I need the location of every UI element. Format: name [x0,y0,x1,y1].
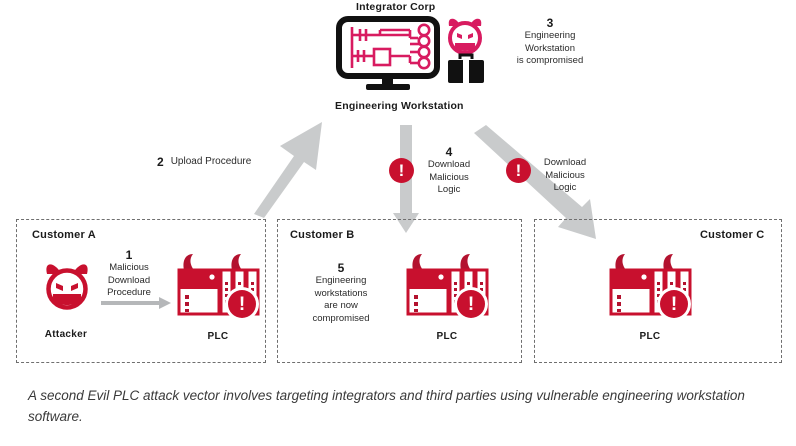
step-3-number: 3 [495,16,605,30]
customer-c-title: Customer C [700,229,764,241]
step-5-line-2: workstations [302,288,380,301]
step-3-line-2: Workstation [495,43,605,56]
download-c-line-1: Download [533,157,597,170]
download-c-line-3: Logic [533,182,597,195]
step-5-line-1: Engineering [302,275,380,288]
alert-glyph: ! [239,295,245,314]
download-c-line-2: Malicious [533,170,597,183]
attacker-devil-icon [41,261,93,311]
step-1-line-1: Malicious [98,262,160,275]
alert-badge-download-c: ! [506,158,531,183]
step-4-line-3: Logic [418,184,480,197]
alert-glyph: ! [516,162,522,179]
customer-a-title: Customer A [32,229,96,241]
step-1-block: 1 Malicious Download Procedure [98,248,160,300]
customer-b-title: Customer B [290,229,354,241]
step-5-number: 5 [302,261,380,275]
step-3-line-1: Engineering [495,30,605,43]
alert-badge-step-4: ! [389,158,414,183]
step-4-line-1: Download [418,159,480,172]
step-1-line-2: Download [98,275,160,288]
alert-glyph: ! [468,295,474,314]
alert-badge-plc-a: ! [228,290,256,318]
step-2-label: Upload Procedure [171,156,252,169]
alert-badge-plc-b: ! [457,290,485,318]
diagram-canvas: Integrator Corp [0,0,796,446]
figure-caption: A second Evil PLC attack vector involves… [28,385,748,427]
step-3-block: 3 Engineering Workstation is compromised [495,16,605,68]
step-5-block: 5 Engineering workstations are now compr… [302,261,380,325]
devil-face-icon [444,16,486,56]
malicious-download-arrow [101,296,173,310]
plc-label-customer-b: PLC [409,331,485,342]
step-2-block: 2 Upload Procedure [157,155,251,169]
engineering-workstation-monitor-icon [336,16,440,92]
engineering-workstation-label: Engineering Workstation [335,100,464,112]
step-3-line-3: is compromised [495,55,605,68]
step-4-line-2: Malicious [418,172,480,185]
integrator-corp-title: Integrator Corp [356,1,435,13]
upload-procedure-arrow [250,118,330,218]
alert-glyph: ! [399,162,405,179]
step-1-number: 1 [98,248,160,262]
attacker-label: Attacker [28,329,104,340]
step-4-number: 4 [418,145,480,159]
plc-label-customer-c: PLC [612,331,688,342]
alert-badge-plc-c: ! [660,290,688,318]
briefcase-icon [446,53,486,85]
step-2-number: 2 [157,155,164,169]
plc-label-customer-a: PLC [180,331,256,342]
download-malicious-logic-block-c: Download Malicious Logic [533,157,597,195]
step-4-block: 4 Download Malicious Logic [418,145,480,197]
alert-glyph: ! [671,295,677,314]
step-5-line-3: are now [302,300,380,313]
step-5-line-4: compromised [302,313,380,326]
